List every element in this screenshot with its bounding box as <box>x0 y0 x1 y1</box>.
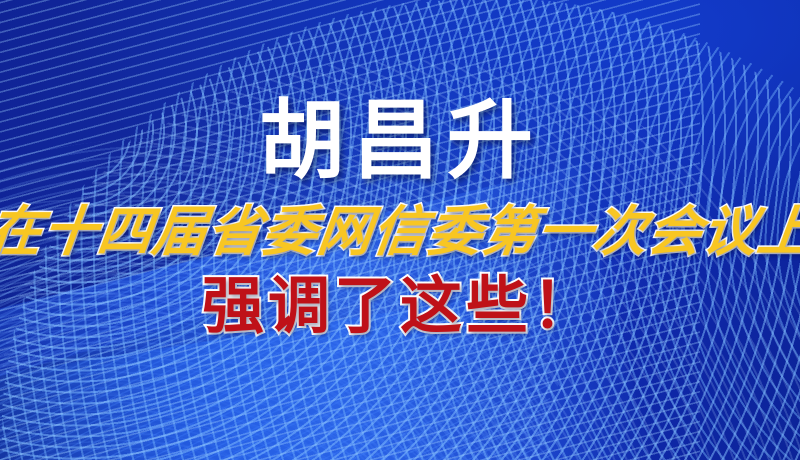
poster-headline: 胡昌升 <box>259 98 541 184</box>
text-stack: 胡昌升 在十四届省委网信委第一次会议上 强调了这些！ <box>0 0 800 460</box>
poster-canvas: 胡昌升 在十四届省委网信委第一次会议上 强调了这些！ <box>0 0 800 460</box>
poster-kicker: 强调了这些！ <box>202 276 598 338</box>
poster-subtitle: 在十四届省委网信委第一次会议上 <box>0 204 800 258</box>
